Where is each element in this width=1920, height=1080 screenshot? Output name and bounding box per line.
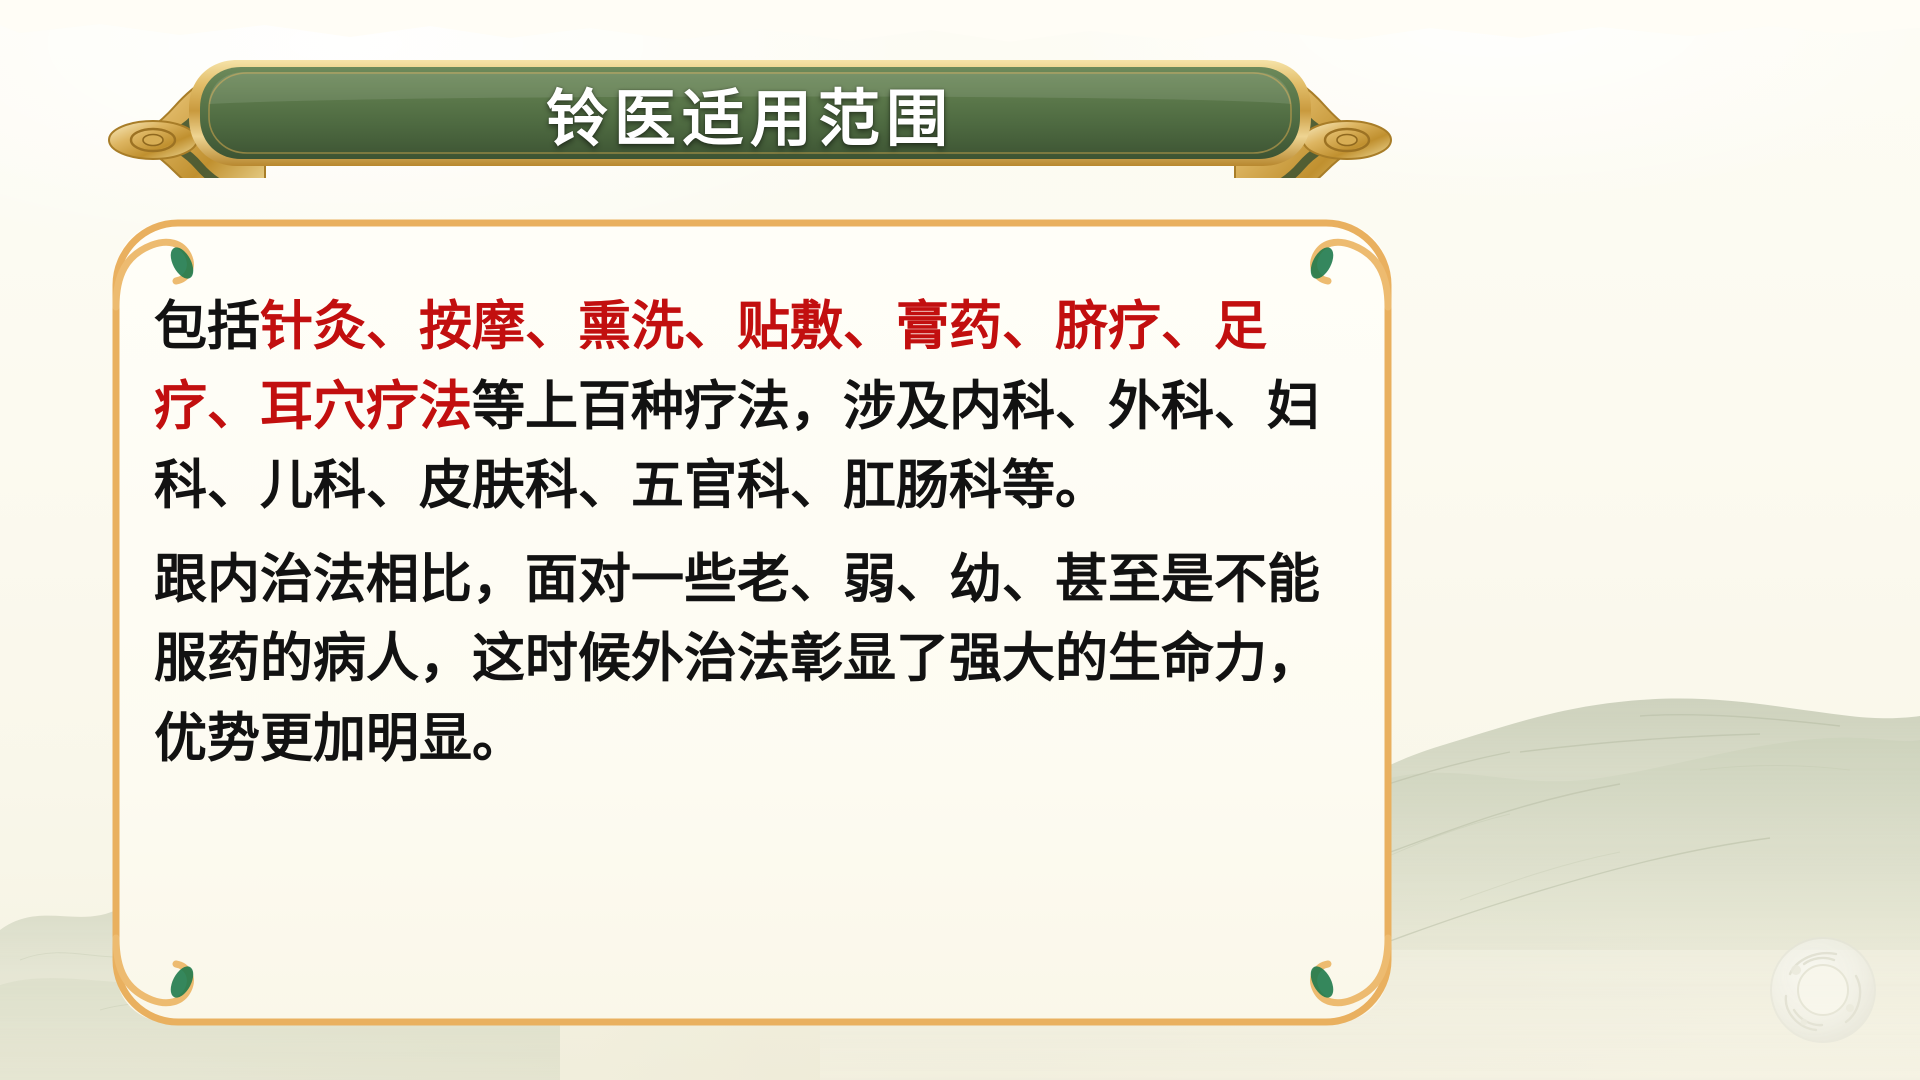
banner-title-text: 铃医适用范围 xyxy=(95,48,1405,178)
circular-dragon-seal-icon xyxy=(1760,930,1886,1056)
paragraph-2: 跟内治法相比，面对一些老、弱、幼、甚至是不能服药的病人，这时候外治法彰显了强大的… xyxy=(154,540,1350,779)
content-text-body: 包括针灸、按摩、熏洗、贴敷、膏药、脐疗、足疗、耳穴疗法等上百种疗法，涉及内科、外… xyxy=(108,215,1396,1030)
paragraph-1: 包括针灸、按摩、熏洗、贴敷、膏药、脐疗、足疗、耳穴疗法等上百种疗法，涉及内科、外… xyxy=(154,287,1350,526)
p2-segment-plain: 跟内治法相比，面对一些老、弱、幼、甚至是不能服药的病人，这时候外治法彰显了强大的… xyxy=(154,549,1320,769)
content-card: 包括针灸、按摩、熏洗、贴敷、膏药、脐疗、足疗、耳穴疗法等上百种疗法，涉及内科、外… xyxy=(108,215,1396,1030)
title-banner: 铃医适用范围 xyxy=(95,48,1405,178)
p1-segment-plain-1: 包括 xyxy=(154,296,260,357)
slide-canvas: 铃医适用范围 xyxy=(0,0,1920,1080)
